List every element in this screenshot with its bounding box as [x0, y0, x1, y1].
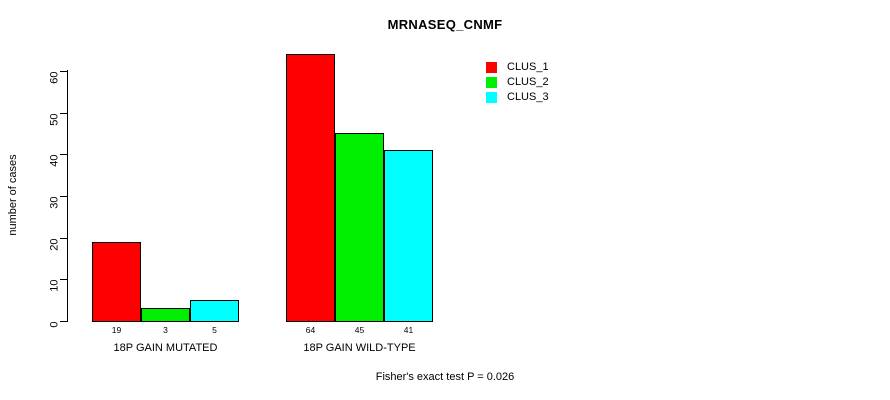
- y-axis-tick: [60, 154, 67, 155]
- bar-value-label: 3: [141, 325, 190, 335]
- y-axis-tick: [60, 321, 67, 322]
- bar: [190, 300, 239, 322]
- legend-item[interactable]: CLUS_3: [486, 90, 549, 105]
- bar-value-label: 41: [384, 325, 433, 335]
- legend-item[interactable]: CLUS_2: [486, 75, 549, 90]
- y-axis-tick-label: 40: [50, 155, 61, 195]
- bar-value-label: 19: [92, 325, 141, 335]
- y-axis-title: number of cases: [7, 145, 19, 245]
- legend: CLUS_1 CLUS_2 CLUS_3: [486, 60, 549, 105]
- legend-swatch-clus-1: [486, 62, 497, 73]
- bar: [384, 150, 433, 322]
- bar: [286, 54, 335, 322]
- y-axis-tick-label: 30: [50, 197, 61, 237]
- y-axis-tick: [60, 238, 67, 239]
- y-axis-tick-label: 0: [50, 322, 61, 362]
- group-label: 18P GAIN WILD-TYPE: [286, 342, 433, 354]
- y-axis-tick-label: 60: [50, 72, 61, 112]
- bar: [92, 242, 141, 322]
- y-axis-tick: [60, 71, 67, 72]
- legend-label-clus-2: CLUS_2: [507, 77, 549, 88]
- y-axis-tick: [60, 279, 67, 280]
- legend-swatch-clus-3: [486, 92, 497, 103]
- chart-title: MRNASEQ_CNMF: [0, 17, 890, 32]
- y-axis-tick: [60, 113, 67, 114]
- legend-label-clus-3: CLUS_3: [507, 92, 549, 103]
- bar-value-label: 5: [190, 325, 239, 335]
- legend-label-clus-1: CLUS_1: [507, 62, 549, 73]
- bar: [141, 308, 190, 322]
- y-axis-tick-label: 50: [50, 113, 61, 153]
- y-axis-line: [67, 70, 68, 322]
- legend-swatch-clus-2: [486, 77, 497, 88]
- group-label: 18P GAIN MUTATED: [92, 342, 239, 354]
- legend-item[interactable]: CLUS_1: [486, 60, 549, 75]
- y-axis-tick-label: 10: [50, 280, 61, 320]
- bar-value-label: 45: [335, 325, 384, 335]
- bar-value-label: 64: [286, 325, 335, 335]
- bar-chart-plot: MRNASEQ_CNMF number of cases 01020304050…: [0, 0, 890, 400]
- y-axis-tick: [60, 196, 67, 197]
- statistical-test-annotation: Fisher's exact test P = 0.026: [0, 371, 890, 383]
- bar: [335, 133, 384, 322]
- y-axis-tick-label: 20: [50, 238, 61, 278]
